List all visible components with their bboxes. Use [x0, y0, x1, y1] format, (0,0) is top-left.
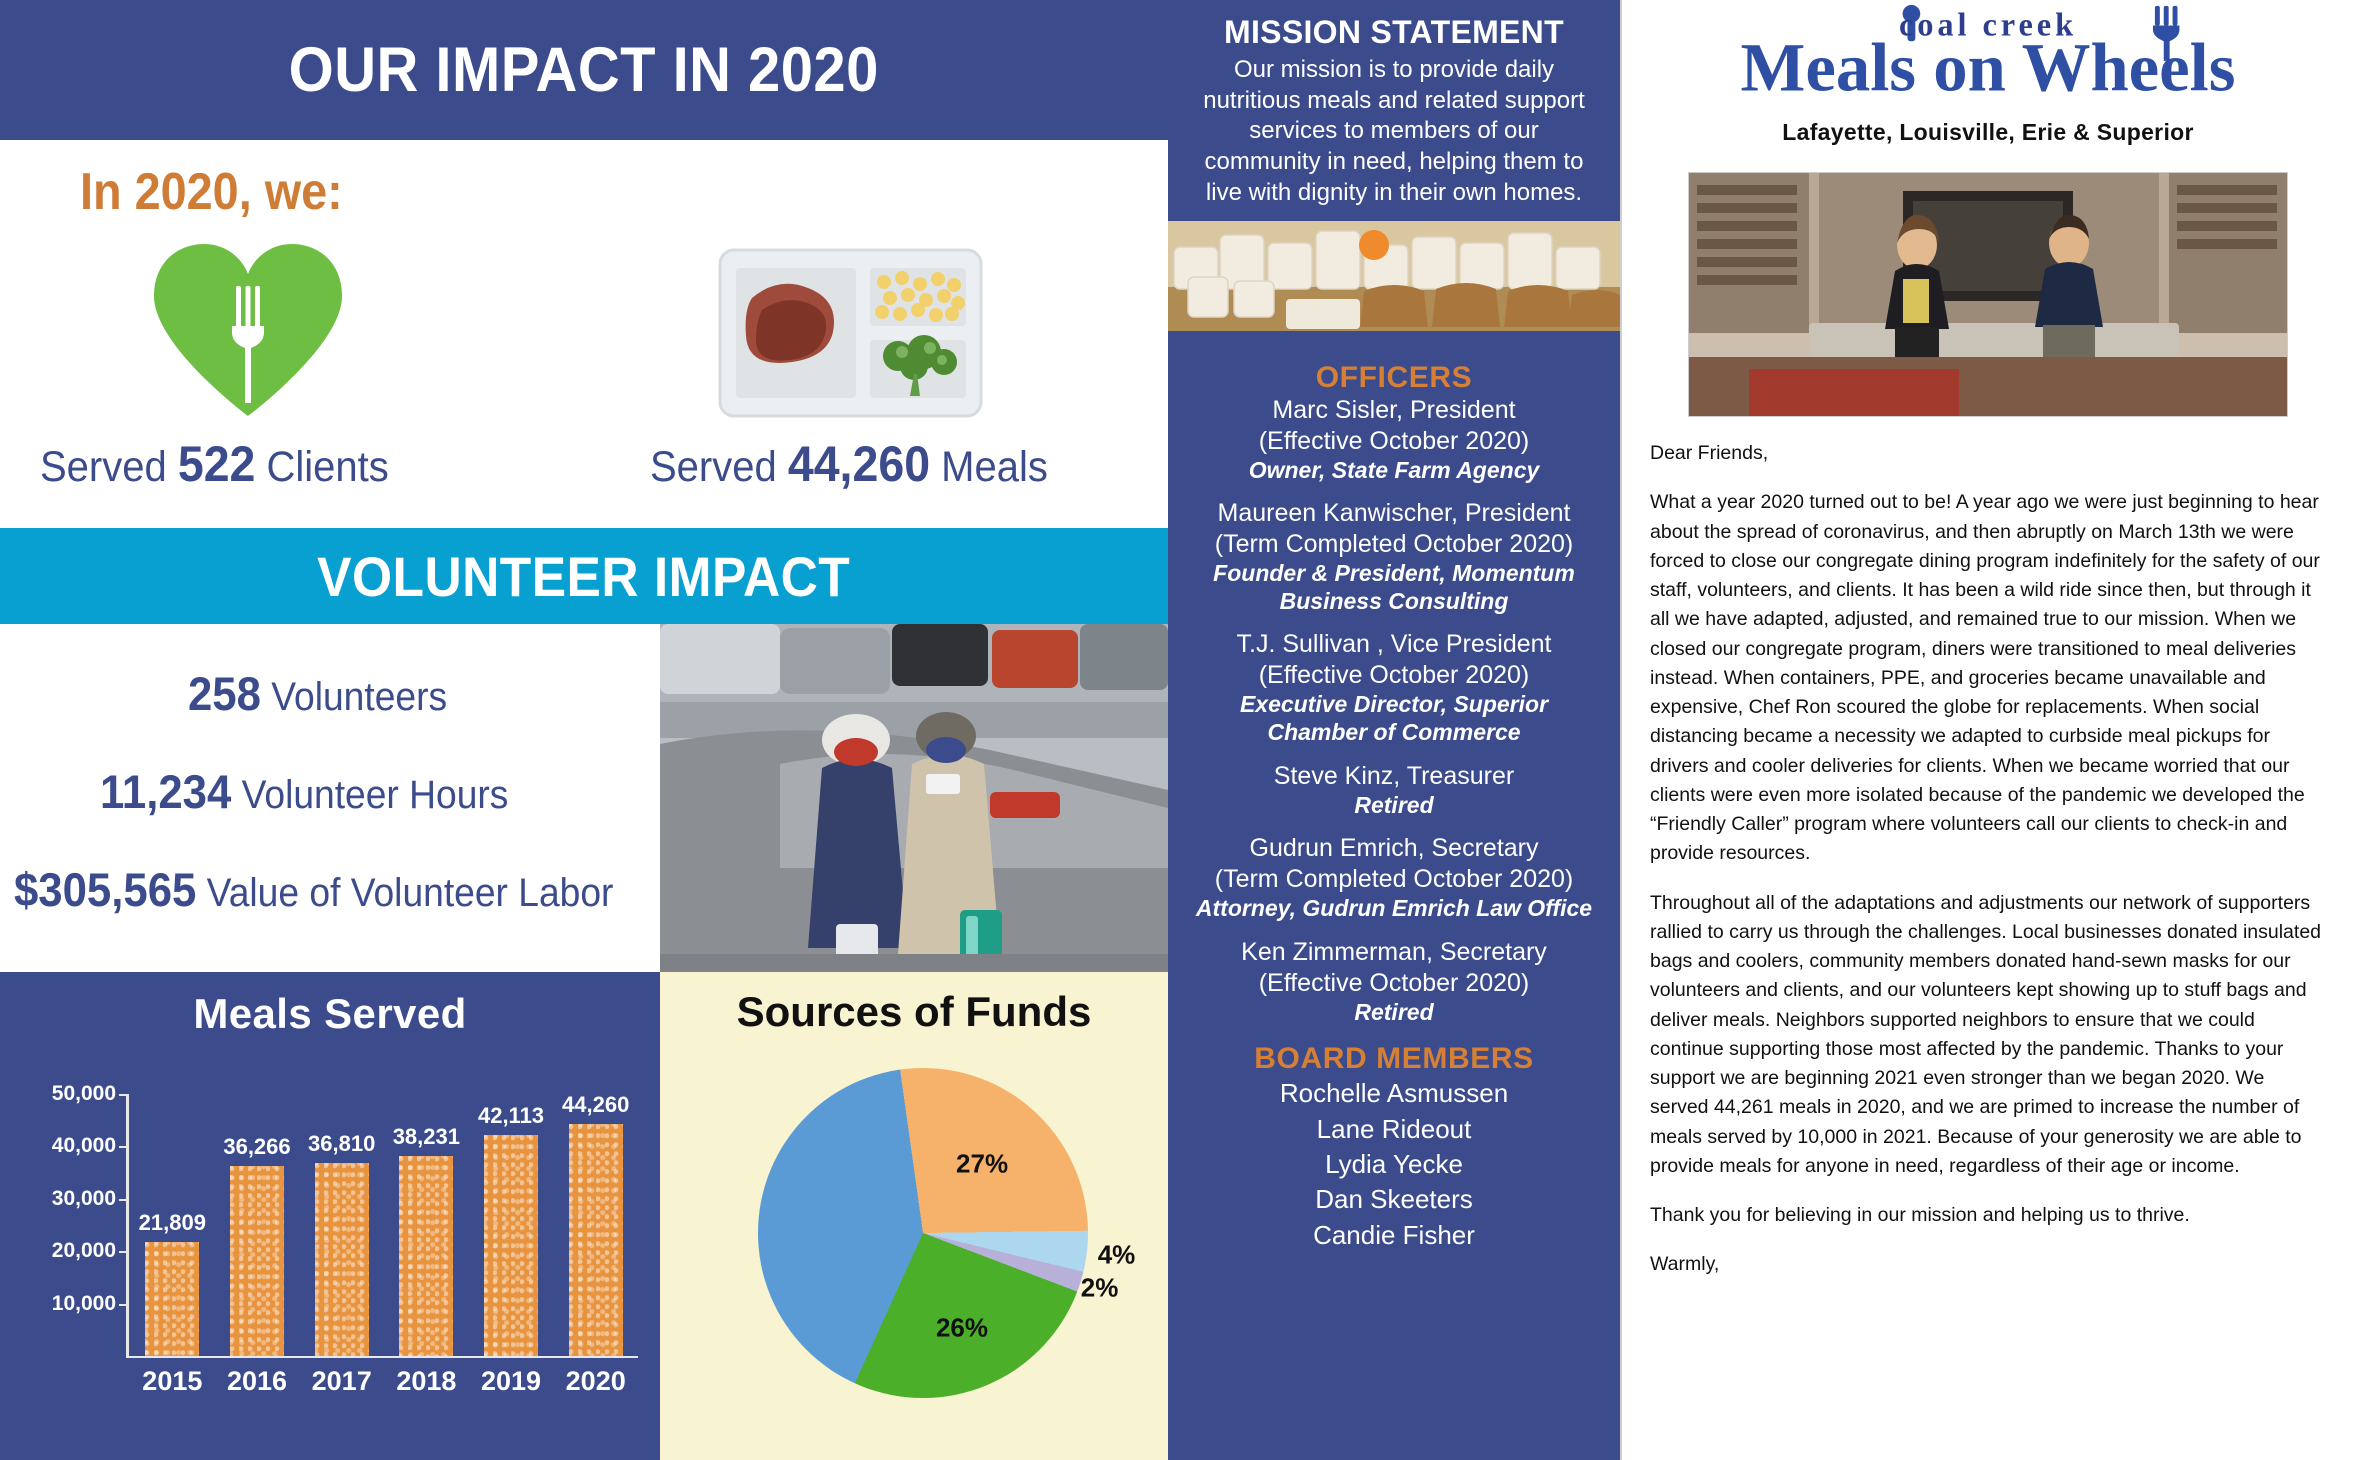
officer-entry: Marc Sisler, President(Effective October… [1190, 395, 1598, 485]
bar-group: 36,810 [299, 1094, 384, 1356]
bar-group: 44,260 [553, 1094, 638, 1356]
y-axis-labels: 50,00040,00030,00020,00010,000 [20, 1094, 124, 1354]
volunteers-label: Volunteers [261, 675, 447, 719]
officer-entry: Maureen Kanwischer, President(Term Compl… [1190, 498, 1598, 615]
officer-term: (Effective October 2020) [1190, 968, 1598, 999]
clients-stat: Served 522 Clients [40, 435, 389, 493]
bar-group: 21,809 [130, 1094, 215, 1356]
heart-fork-icon [148, 238, 348, 418]
labor-value: $305,565 [14, 863, 196, 916]
meal-containers-photo [1168, 221, 1620, 331]
mission-title: MISSION STATEMENT [1190, 14, 1598, 51]
staff-fireplace-photo [1688, 172, 2288, 417]
mission-and-board-column: MISSION STATEMENT Our mission is to prov… [1168, 0, 1620, 1460]
volunteer-stat-hours: 11,234 Volunteer Hours [100, 764, 508, 819]
board-member: Dan Skeeters [1190, 1182, 1598, 1217]
officer-entry: Steve Kinz, TreasurerRetired [1190, 761, 1598, 820]
mission-text: Our mission is to provide daily nutritio… [1190, 55, 1598, 209]
impact-column: OUR IMPACT IN 2020 In 2020, we: [0, 0, 1168, 1460]
clients-prefix: Served [40, 443, 178, 491]
bar-value-label: 21,809 [139, 1210, 206, 1236]
y-tick-label: 40,000 [52, 1134, 116, 1158]
hours-label: Volunteer Hours [231, 773, 508, 817]
annual-report-page: OUR IMPACT IN 2020 In 2020, we: [0, 0, 2356, 1460]
sources-of-funds-chart: Sources of Funds 27%4%2%26% [660, 972, 1168, 1460]
pie-graphic [758, 1068, 1088, 1398]
letter-closing: Warmly, [1650, 1250, 2326, 1279]
officer-term: (Term Completed October 2020) [1190, 864, 1598, 895]
board-member: Lydia Yecke [1190, 1147, 1598, 1182]
y-tick-label: 30,000 [52, 1187, 116, 1211]
letter-paragraph-3: Thank you for believing in our mission a… [1650, 1201, 2326, 1230]
brand-meals-on-wheels-text: Meals on Wheels [1740, 29, 2235, 105]
x-axis-line [126, 1356, 638, 1358]
x-axis-labels: 201520162017201820192020 [130, 1366, 638, 1397]
x-tick-label: 2015 [130, 1366, 215, 1397]
x-tick-label: 2018 [384, 1366, 469, 1397]
officer-role: Retired [1190, 792, 1598, 820]
funds-chart-title: Sources of Funds [660, 988, 1168, 1036]
labor-label: Value of Volunteer Labor [196, 871, 613, 915]
volunteer-body: 258 Volunteers 11,234 Volunteer Hours $3… [0, 624, 1168, 972]
meals-suffix: Meals [930, 443, 1048, 491]
letter-paragraph-2: Throughout all of the adaptations and ad… [1650, 889, 2326, 1182]
meals-plot-area: 50,00040,00030,00020,00010,000 21,80936,… [20, 1094, 645, 1424]
bar-group: 42,113 [469, 1094, 554, 1356]
letter-body: Dear Friends, What a year 2020 turned ou… [1620, 417, 2356, 1280]
pie-slice-label: 26% [936, 1312, 988, 1343]
officer-entry: Gudrun Emrich, Secretary(Term Completed … [1190, 833, 1598, 923]
officer-role: Retired [1190, 999, 1598, 1027]
letter-salutation: Dear Friends, [1650, 439, 2326, 468]
officer-role: Attorney, Gudrun Emrich Law Office [1190, 895, 1598, 923]
meal-tray-icon [718, 248, 983, 418]
brand-cities: Lafayette, Louisville, Erie & Superior [1620, 119, 2356, 146]
y-tick [119, 1146, 128, 1148]
bar-series: 21,80936,26636,81038,23142,11344,260 [130, 1094, 638, 1356]
officer-term: (Effective October 2020) [1190, 660, 1598, 691]
bar-value-label: 36,810 [308, 1131, 375, 1157]
clients-value: 522 [178, 436, 256, 492]
y-tick [119, 1251, 128, 1253]
column-divider [1620, 0, 1622, 1460]
officer-entry: T.J. Sullivan , Vice President(Effective… [1190, 629, 1598, 746]
officer-role: Owner, State Farm Agency [1190, 457, 1598, 485]
meals-prefix: Served [650, 443, 788, 491]
meals-chart-title: Meals Served [0, 990, 660, 1038]
volunteer-header: VOLUNTEER IMPACT [0, 528, 1168, 624]
y-tick [119, 1199, 128, 1201]
volunteer-stats: 258 Volunteers 11,234 Volunteer Hours $3… [0, 624, 660, 972]
volunteers-delivery-photo [660, 624, 1168, 972]
officer-name: Marc Sisler, President [1190, 395, 1598, 426]
board-member: Lane Rideout [1190, 1112, 1598, 1147]
y-tick-label: 10,000 [52, 1292, 116, 1316]
bar-group: 36,266 [215, 1094, 300, 1356]
volunteer-stat-labor-value: $305,565 Value of Volunteer Labor [14, 862, 613, 917]
bar [145, 1242, 199, 1356]
bar [230, 1166, 284, 1356]
board-member: Rochelle Asmussen [1190, 1076, 1598, 1111]
pie-slice-label: 4% [1098, 1239, 1136, 1270]
y-tick-label: 20,000 [52, 1239, 116, 1263]
pie-slice-label: 2% [1081, 1272, 1119, 1303]
meals-served-chart: Meals Served 50,00040,00030,00020,00010,… [0, 972, 660, 1460]
mission-block: MISSION STATEMENT Our mission is to prov… [1168, 0, 1620, 209]
bar-value-label: 44,260 [562, 1092, 629, 1118]
bar-value-label: 38,231 [393, 1124, 460, 1150]
officer-name: Steve Kinz, Treasurer [1190, 761, 1598, 792]
impact-intro: In 2020, we: [80, 162, 343, 222]
board-member: Candie Fisher [1190, 1218, 1598, 1253]
officers-list: Marc Sisler, President(Effective October… [1190, 395, 1598, 1027]
volunteer-title: VOLUNTEER IMPACT [317, 544, 850, 609]
officer-name: Gudrun Emrich, Secretary [1190, 833, 1598, 864]
officer-term: (Effective October 2020) [1190, 426, 1598, 457]
meals-value: 44,260 [788, 436, 930, 492]
bar [569, 1124, 623, 1356]
charts-row: Meals Served 50,00040,00030,00020,00010,… [0, 972, 1168, 1460]
x-tick-label: 2019 [469, 1366, 554, 1397]
clients-suffix: Clients [255, 443, 388, 491]
hours-value: 11,234 [100, 765, 231, 818]
officer-role: Executive Director, Superior Chamber of … [1190, 691, 1598, 746]
officer-term: (Term Completed October 2020) [1190, 529, 1598, 560]
y-tick-label: 50,000 [52, 1082, 116, 1106]
officer-entry: Ken Zimmerman, Secretary(Effective Octob… [1190, 937, 1598, 1027]
page-title: OUR IMPACT IN 2020 [289, 34, 879, 106]
volunteers-value: 258 [188, 667, 261, 720]
bar [484, 1135, 538, 1356]
officer-name: Ken Zimmerman, Secretary [1190, 937, 1598, 968]
logo-area: coal creek Meals on Wheels Lafayette, Lo… [1620, 0, 2356, 166]
officer-name: Maureen Kanwischer, President [1190, 498, 1598, 529]
bar [399, 1156, 453, 1356]
pie-slice-label: 27% [956, 1149, 1008, 1180]
officers-block: OFFICERS Marc Sisler, President(Effectiv… [1168, 331, 1620, 1254]
officer-role: Founder & President, Momentum Business C… [1190, 560, 1598, 615]
logo-lockup: coal creek Meals on Wheels Lafayette, Lo… [1620, 0, 2356, 146]
letter-paragraph-1: What a year 2020 turned out to be! A yea… [1650, 488, 2326, 868]
volunteer-stat-volunteers: 258 Volunteers [188, 666, 447, 721]
x-tick-label: 2020 [553, 1366, 638, 1397]
officer-name: T.J. Sullivan , Vice President [1190, 629, 1598, 660]
impact-body: In 2020, we: [0, 140, 1168, 528]
board-members-list: Rochelle AsmussenLane RideoutLydia Yecke… [1190, 1076, 1598, 1253]
bar-value-label: 42,113 [478, 1103, 544, 1129]
bar-value-label: 36,266 [223, 1134, 290, 1160]
letter-column: coal creek Meals on Wheels Lafayette, Lo… [1620, 0, 2356, 1460]
x-tick-label: 2016 [215, 1366, 300, 1397]
bar [315, 1163, 369, 1356]
x-tick-label: 2017 [299, 1366, 384, 1397]
y-tick [119, 1304, 128, 1306]
y-tick [119, 1094, 128, 1096]
bar-group: 38,231 [384, 1094, 469, 1356]
officers-title: OFFICERS [1190, 361, 1598, 395]
y-axis-line [126, 1094, 129, 1356]
impact-header: OUR IMPACT IN 2020 [0, 0, 1168, 140]
meals-stat: Served 44,260 Meals [650, 435, 1048, 493]
board-members-title: BOARD MEMBERS [1190, 1042, 1598, 1076]
